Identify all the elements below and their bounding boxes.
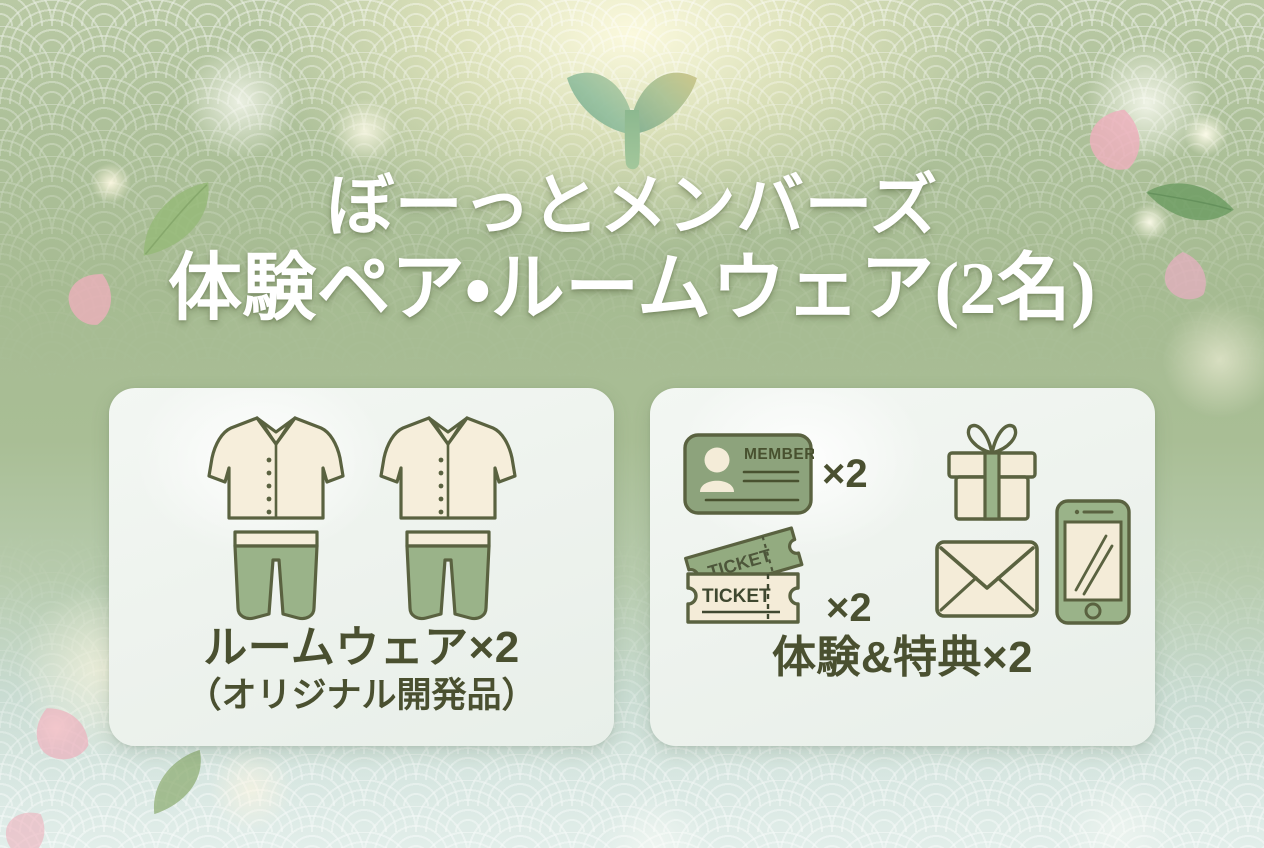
member-card-text: MEMBER bbox=[744, 446, 814, 463]
reward-card-roomwear[interactable]: ルームウェア×2 （オリジナル開発品） bbox=[109, 388, 614, 746]
reward-card-benefits[interactable]: MEMBER ×2 bbox=[650, 388, 1155, 746]
benefits-illustration: MEMBER ×2 bbox=[650, 388, 1155, 638]
gift-box-icon bbox=[938, 416, 1046, 524]
roomwear-label-sub: （オリジナル開発品） bbox=[186, 675, 536, 716]
member-card-multiplier: ×2 bbox=[822, 454, 868, 494]
pajama-set-icon bbox=[201, 402, 351, 630]
roomwear-illustration bbox=[109, 388, 614, 626]
reward-card-list: ルームウェア×2 （オリジナル開発品） MEMBER bbox=[0, 388, 1264, 746]
benefits-label-main: 体験&特典×2 bbox=[772, 632, 1033, 684]
ticket-icon: TICKET TICKET bbox=[678, 526, 818, 634]
poster-canvas: ぼーっとメンバーズ 体験ペア・ルームウェア(2名) bbox=[0, 0, 1264, 848]
pajama-set-icon bbox=[373, 402, 523, 630]
roomwear-card-label: ルームウェア×2 （オリジナル開発品） bbox=[186, 622, 536, 716]
ticket-front-text: TICKET bbox=[702, 586, 771, 607]
page-title: ぼーっとメンバーズ 体験ペア・ルームウェア(2名) bbox=[0, 168, 1264, 331]
benefits-card-label: 体験&特典×2 bbox=[772, 632, 1033, 684]
envelope-icon bbox=[934, 538, 1040, 620]
member-card-icon: MEMBER bbox=[682, 432, 814, 516]
envelope-group bbox=[934, 538, 1040, 620]
ticket-group: TICKET TICKET ×2 bbox=[678, 526, 872, 634]
ticket-multiplier: ×2 bbox=[826, 588, 872, 628]
sprout-icon bbox=[542, 38, 722, 173]
smartphone-group bbox=[1054, 498, 1132, 626]
member-card-group: MEMBER ×2 bbox=[682, 432, 868, 516]
title-line-1: ぼーっとメンバーズ bbox=[0, 168, 1264, 244]
smartphone-icon bbox=[1054, 498, 1132, 626]
title-line-2: 体験ペア・ルームウェア(2名) bbox=[0, 248, 1264, 331]
gift-box-group bbox=[938, 416, 1046, 524]
